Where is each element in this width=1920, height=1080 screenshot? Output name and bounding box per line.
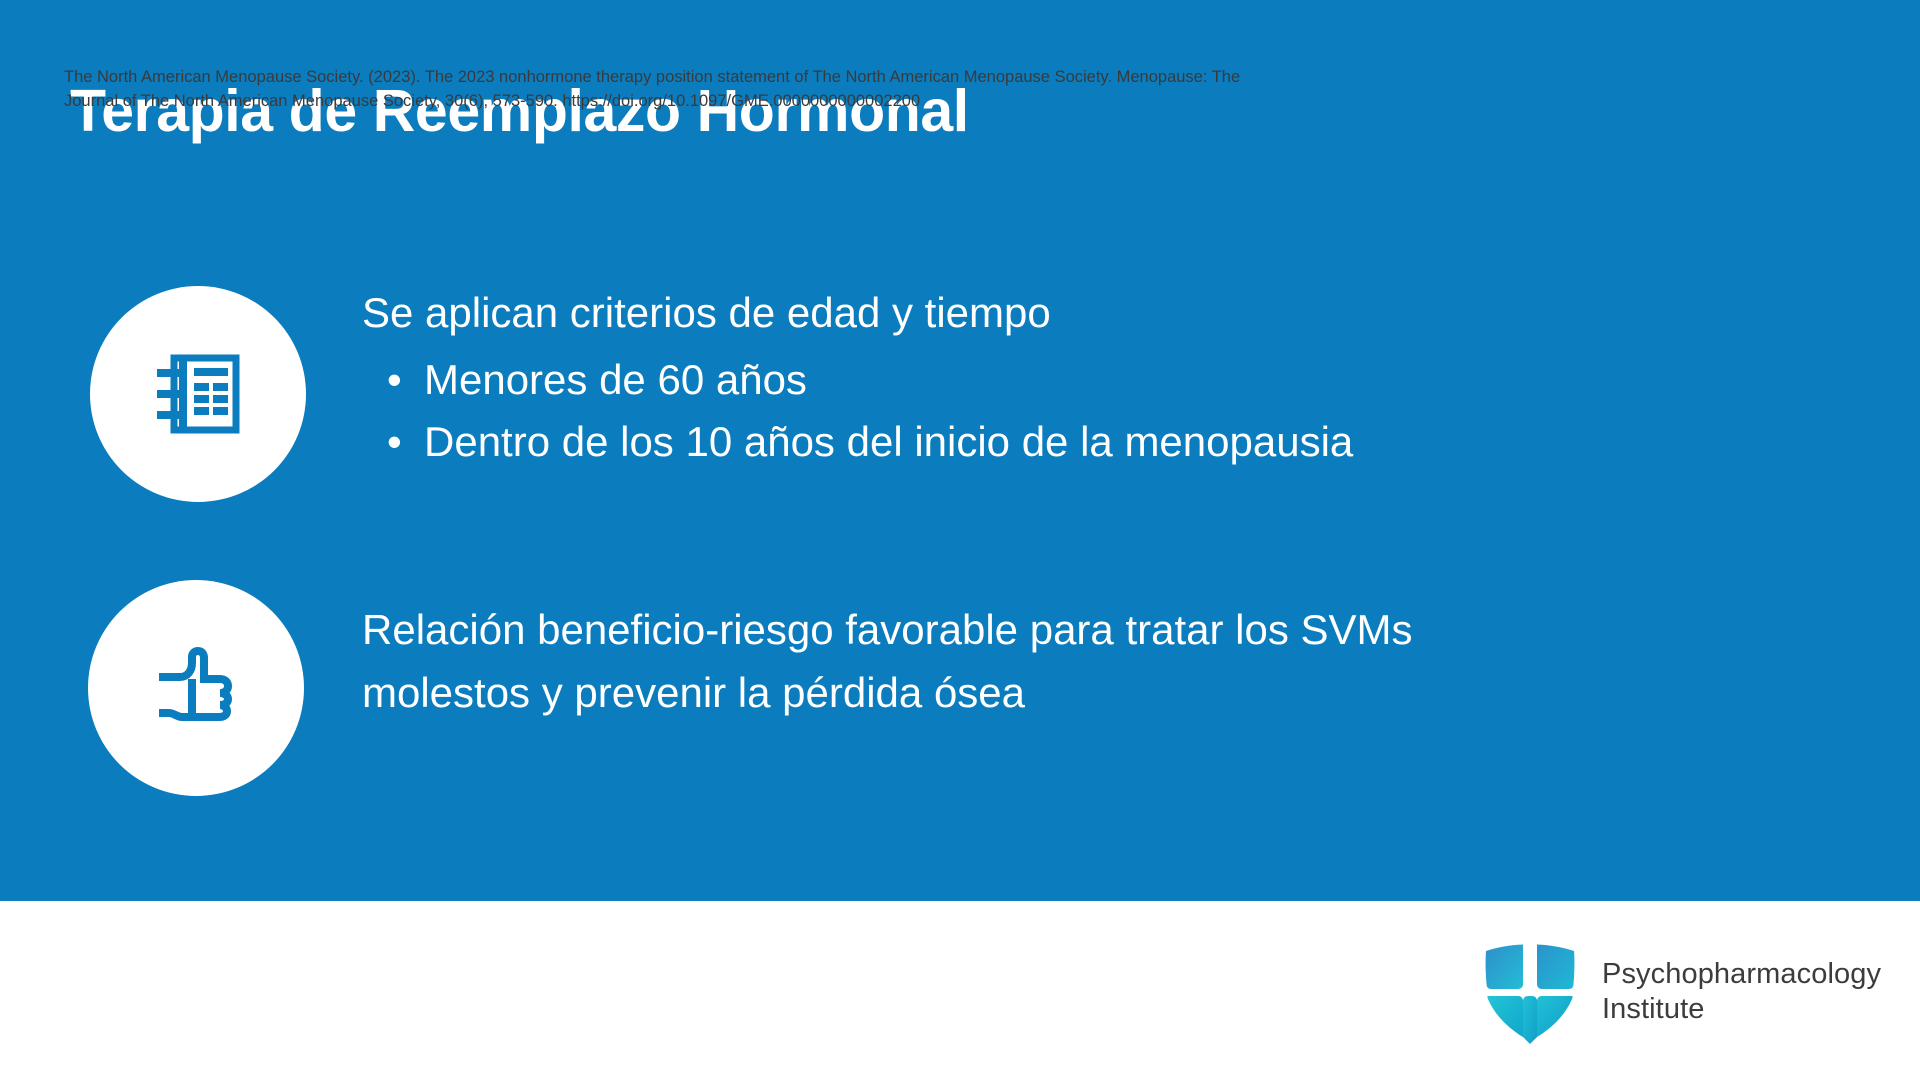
- slide: Terapia de Reemplazo Hormonal: [0, 0, 1920, 1080]
- criteria-text-group: Se aplican criterios de edad y tiempo • …: [362, 286, 1662, 473]
- brand-name-line-1: Psychopharmacology: [1602, 957, 1881, 992]
- icon-badge-thumbs-up: [88, 580, 304, 796]
- brand-name-line-2: Institute: [1602, 992, 1881, 1027]
- shield-quadrants-icon: [1480, 940, 1580, 1044]
- benefit-risk-line-1: Relación beneficio-riesgo favorable para…: [362, 598, 1762, 661]
- bullet-marker-icon: •: [387, 349, 402, 411]
- criteria-lead-line: Se aplican criterios de edad y tiempo: [362, 286, 1662, 341]
- list-item: • Menores de 60 años: [362, 349, 1662, 411]
- list-item: • Dentro de los 10 años del inicio de la…: [362, 411, 1662, 473]
- bullet-marker-icon: •: [387, 411, 402, 473]
- list-item-label: Menores de 60 años: [424, 356, 807, 403]
- citation-line-2: Journal of The North American Menopause …: [64, 90, 1384, 114]
- list-item-label: Dentro de los 10 años del inicio de la m…: [424, 418, 1353, 465]
- citation-line-1: The North American Menopause Society. (2…: [64, 66, 1384, 90]
- thumbs-up-icon: [147, 639, 245, 737]
- icon-badge-notebook: [90, 286, 306, 502]
- benefit-risk-line-2: molestos y prevenir la pérdida ósea: [362, 661, 1762, 724]
- notebook-checklist-icon: [149, 345, 247, 443]
- benefit-risk-text-group: Relación beneficio-riesgo favorable para…: [362, 598, 1762, 724]
- criteria-bullet-list: • Menores de 60 años • Dentro de los 10 …: [362, 349, 1662, 473]
- citation-reference: The North American Menopause Society. (2…: [64, 66, 1384, 114]
- brand-name: Psychopharmacology Institute: [1602, 957, 1881, 1028]
- brand-logo: Psychopharmacology Institute: [1480, 936, 1900, 1048]
